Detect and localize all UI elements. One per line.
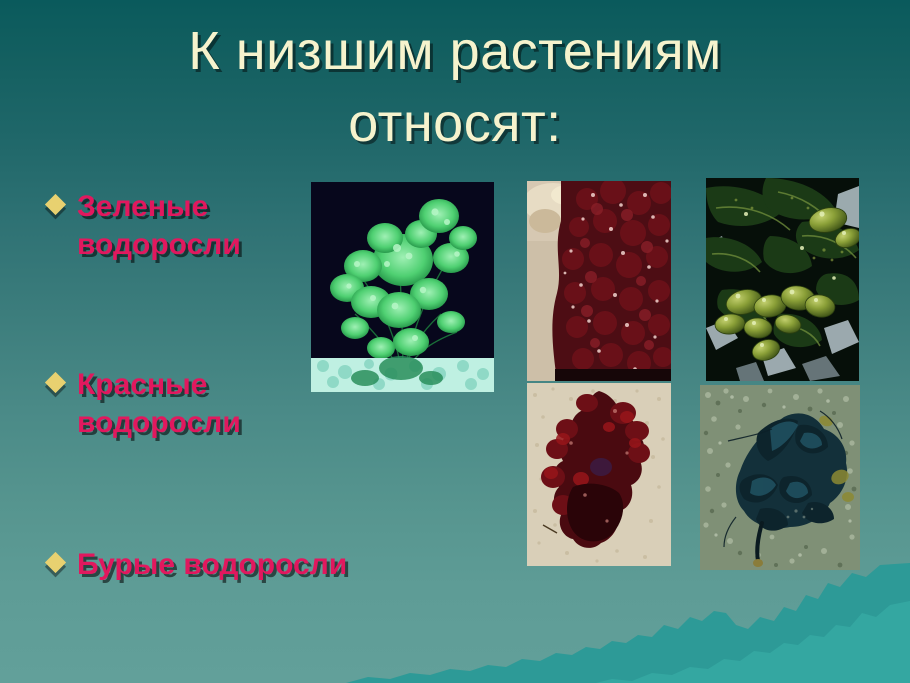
list-item[interactable]: Бурые водоросли [48, 546, 347, 584]
slide-title: К низшим растениям относят: [0, 16, 910, 160]
diamond-bullet-icon [45, 552, 66, 573]
red-algae-dense-photo [527, 181, 671, 381]
green-algae-photo [311, 182, 494, 392]
list-item[interactable]: Зеленые водоросли [48, 188, 241, 265]
list-item-label: Бурые водоросли [77, 546, 347, 584]
brown-algae-kelp-photo [700, 385, 860, 570]
list-item-label: Красные водоросли [77, 366, 241, 443]
diamond-bullet-icon [45, 194, 66, 215]
diamond-bullet-icon [45, 372, 66, 393]
list-item-label: Зеленые водоросли [77, 188, 241, 265]
list-item[interactable]: Красные водоросли [48, 366, 241, 443]
red-algae-sand-photo [527, 383, 671, 566]
presentation-slide: К низшим растениям относят: Зеленые водо… [0, 0, 910, 683]
brown-algae-bladder-photo [706, 178, 859, 381]
